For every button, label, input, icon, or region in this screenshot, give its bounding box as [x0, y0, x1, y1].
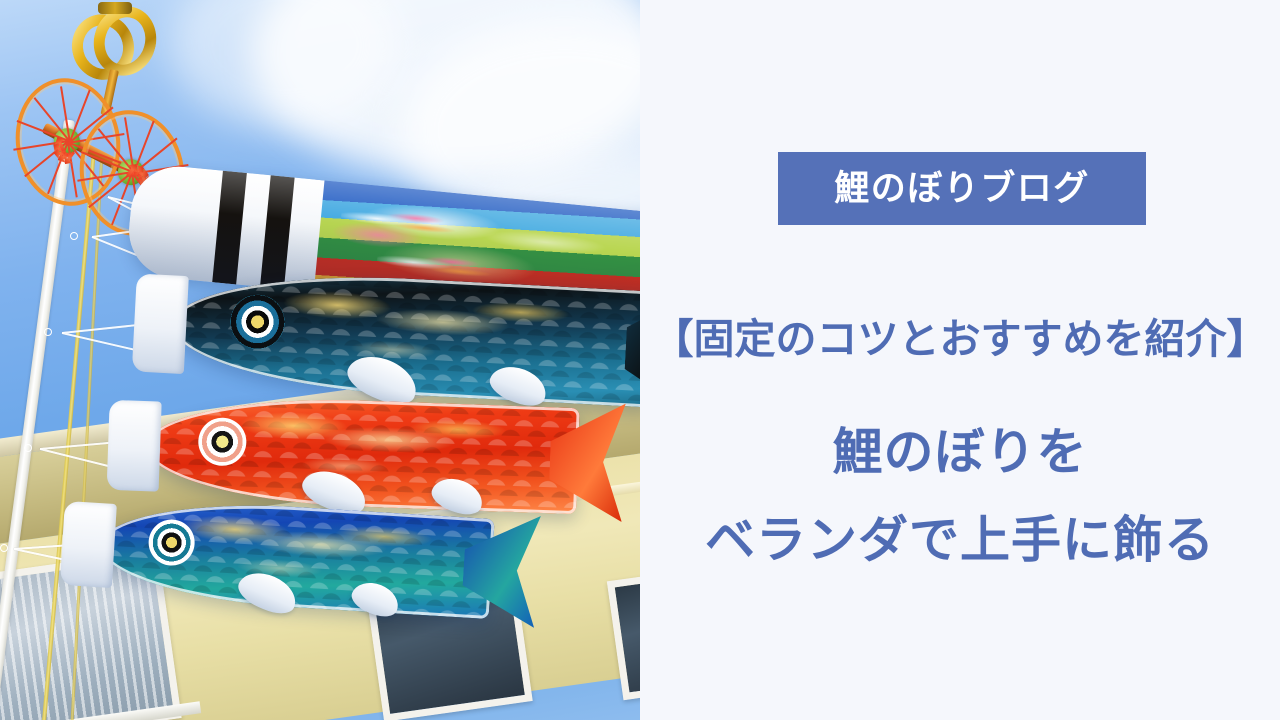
- gold-cap: [98, 2, 132, 14]
- blog-badge: 鯉のぼりブログ: [778, 152, 1146, 225]
- koi-mouth-ring: [107, 400, 162, 491]
- koi-red: [106, 392, 579, 514]
- golden-spinning-ball: [72, 6, 158, 88]
- hero-photo: [0, 0, 640, 720]
- koi-mouth-ring: [60, 501, 117, 588]
- line-knot: [24, 444, 32, 452]
- headline-title: 鯉のぼりを ベランダで上手に飾る: [640, 408, 1280, 584]
- text-panel: 鯉のぼりブログ 【固定のコツとおすすめを紹介】 鯉のぼりを ベランダで上手に飾る: [640, 0, 1280, 720]
- line-knot: [0, 544, 8, 552]
- headline-line-2: ベランダで上手に飾る: [640, 496, 1280, 584]
- koi-mouth-ring: [132, 274, 189, 374]
- headline-line-1: 鯉のぼりを: [640, 408, 1280, 496]
- page-root: 鯉のぼりブログ 【固定のコツとおすすめを紹介】 鯉のぼりを ベランダで上手に飾る: [0, 0, 1280, 720]
- headline-subtitle: 【固定のコツとおすすめを紹介】: [640, 305, 1280, 365]
- line-knot: [44, 328, 52, 336]
- line-knot: [70, 232, 78, 240]
- blog-badge-label: 鯉のぼりブログ: [834, 171, 1090, 206]
